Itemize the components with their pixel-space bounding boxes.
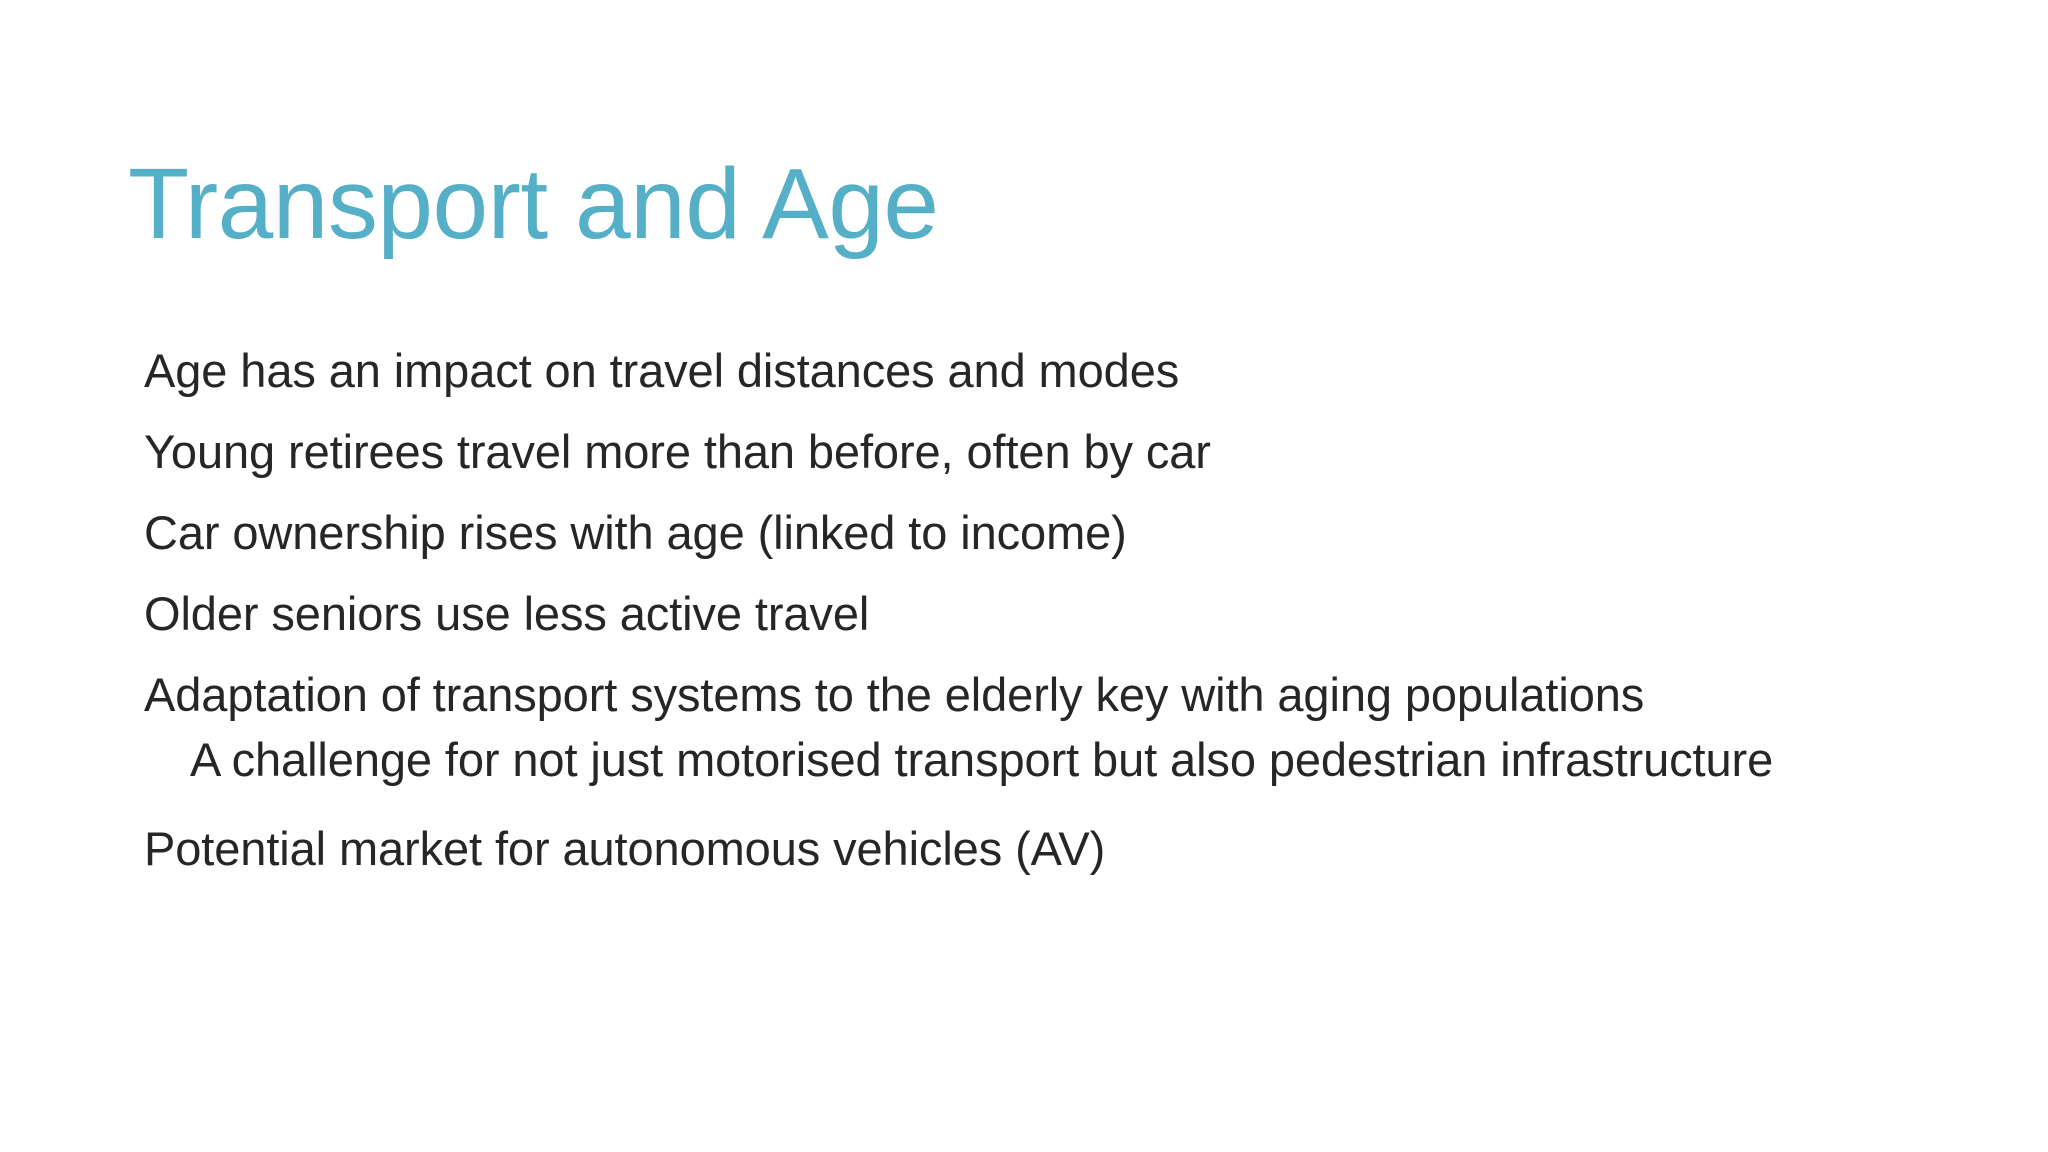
bullet-line-5: Adaptation of transport systems to the e… bbox=[144, 654, 1974, 735]
bullet-line-2: Young retirees travel more than before, … bbox=[144, 411, 1974, 492]
page-title: Transport and Age bbox=[128, 148, 1928, 260]
slide-title-placeholder[interactable]: Transport and Age bbox=[128, 148, 1928, 278]
bullet-line-3: Car ownership rises with age (linked to … bbox=[144, 492, 1974, 573]
bullet-line-4: Older seniors use less active travel bbox=[144, 573, 1974, 654]
bullet-line-6: Potential market for autonomous vehicles… bbox=[144, 808, 1974, 889]
slide-body-placeholder[interactable]: Age has an impact on travel distances an… bbox=[144, 330, 1974, 889]
presentation-slide: Transport and Age Age has an impact on t… bbox=[0, 0, 2048, 1152]
bullet-line-1: Age has an impact on travel distances an… bbox=[144, 330, 1974, 411]
bullet-line-5-sub-1: A challenge for not just motorised trans… bbox=[144, 727, 1974, 792]
